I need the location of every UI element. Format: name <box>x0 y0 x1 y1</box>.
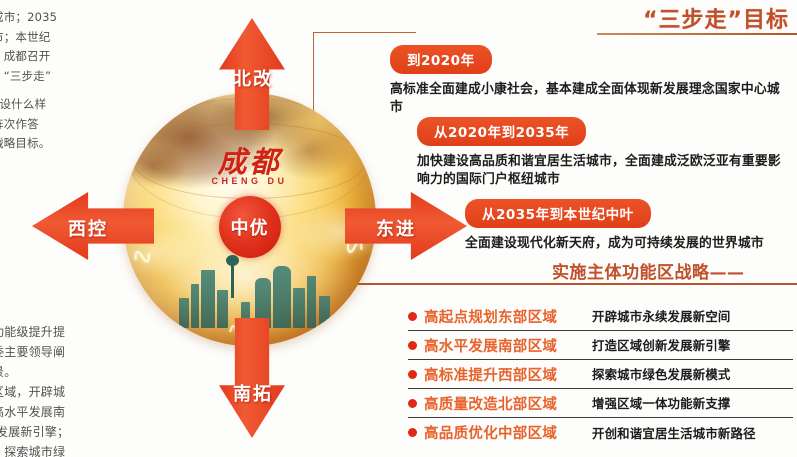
page-title-text: “三步走”目标 <box>643 8 789 33</box>
skyline-building <box>273 266 291 328</box>
region-name: 高质量改造北部区域 <box>424 393 592 414</box>
bullet-icon <box>408 370 417 379</box>
globe-city-pinyin: CHENG DU <box>123 176 376 186</box>
region-list-item: 高标准提升西部区域 探索城市绿色发展新模式 <box>408 360 793 389</box>
region-name: 高水平发展南部区域 <box>424 335 592 356</box>
skyline-building <box>191 284 199 328</box>
bullet-icon <box>408 428 417 437</box>
timeline-step-3: 从2035年到本世纪中叶 全面建设现代化新天府，成为可持续发展的世界城市 <box>465 199 795 253</box>
region-description: 开辟城市永续发展新空间 <box>592 307 731 325</box>
section-heading: 实施主体功能区战略—— <box>552 258 745 283</box>
arrow-north-label: 北改 <box>233 65 273 91</box>
bullet-icon <box>408 312 417 321</box>
region-description: 开创和谐宜居生活城市新路径 <box>592 424 756 442</box>
arrow-east-label: 东进 <box>376 215 416 241</box>
timeline-step-2-body: 加快建设高品质和谐宜居生活城市，全面建成泛欧泛亚有重要影响力的国际门户枢纽城市 <box>417 153 792 189</box>
timeline-step-2: 从2020年到2035年 加快建设高品质和谐宜居生活城市，全面建成泛欧泛亚有重要… <box>417 117 792 189</box>
region-name: 高标准提升西部区域 <box>424 364 592 385</box>
region-description: 探索城市绿色发展新模式 <box>592 365 731 383</box>
timeline-step-1: 到2020年 高标准全面建成小康社会，基本建成全面体现新发展理念国家中心城市 <box>390 45 790 117</box>
timeline-step-1-body: 高标准全面建成小康社会，基本建成全面体现新发展理念国家中心城市 <box>390 81 790 117</box>
arrow-south-label: 南拓 <box>233 380 273 406</box>
page-title: “三步走”目标 <box>643 2 789 34</box>
region-list-item: 高质量改造北部区域 增强区域一体功能新支撑 <box>408 389 793 418</box>
bullet-icon <box>408 341 417 350</box>
section-divider-rule <box>313 283 797 285</box>
timeline-step-1-pill: 到2020年 <box>390 45 492 74</box>
region-list-item: 高起点规划东部区域 开辟城市永续发展新空间 <box>408 302 793 331</box>
region-description: 打造区域创新发展新引擎 <box>592 336 731 354</box>
left-text-block-2: E设什么样 阵次作答 战略目标。 ， <box>0 95 92 173</box>
region-strategy-list: 高起点规划东部区域 开辟城市永续发展新空间 高水平发展南部区域 打造区域创新发展… <box>408 302 793 447</box>
city-skyline-silhouette <box>123 254 376 328</box>
region-description: 增强区域一体功能新支撑 <box>592 394 731 412</box>
region-name: 高起点规划东部区域 <box>424 306 592 327</box>
center-region-badge-label: 中优 <box>231 214 269 240</box>
center-region-badge: 中优 <box>219 196 281 258</box>
timeline-step-2-pill: 从2020年到2035年 <box>417 117 586 146</box>
skyline-building <box>293 288 305 328</box>
tv-tower-sphere <box>226 255 239 266</box>
skyline-building <box>179 298 189 328</box>
timeline-step-3-pill: 从2035年到本世纪中叶 <box>465 199 651 228</box>
infographic-canvas: 成市；2035 市；本世纪 ，成都召开 ：“三步走” E设什么样 阵次作答 战略… <box>0 0 797 457</box>
region-name: 高品质优化中部区域 <box>424 422 592 443</box>
skyline-building <box>201 270 215 328</box>
skyline-building <box>307 276 316 328</box>
region-list-item: 高水平发展南部区域 打造区域创新发展新引擎 <box>408 331 793 360</box>
skyline-building <box>319 296 330 328</box>
timeline-step-3-body: 全面建设现代化新天府，成为可持续发展的世界城市 <box>465 235 795 253</box>
left-text-block-3: 功能级提升提 委主要领导阐 景。 区域，开辟城 高水平发展南 ·发展新引擎； ，… <box>0 322 92 457</box>
left-text-block-1: 成市；2035 市；本世纪 ，成都召开 ：“三步走” <box>0 8 92 86</box>
globe-city-name: 成都 <box>123 139 376 181</box>
chengdu-globe-graphic: ∿ ∿ ∿ 成都 CHENG DU 中优 <box>123 93 376 346</box>
bullet-icon <box>408 399 417 408</box>
title-underline-rule <box>597 33 797 35</box>
region-list-item: 高品质优化中部区域 开创和谐宜居生活城市新路径 <box>408 418 793 447</box>
skyline-building <box>217 290 228 328</box>
arrow-west-label: 西控 <box>68 215 108 241</box>
